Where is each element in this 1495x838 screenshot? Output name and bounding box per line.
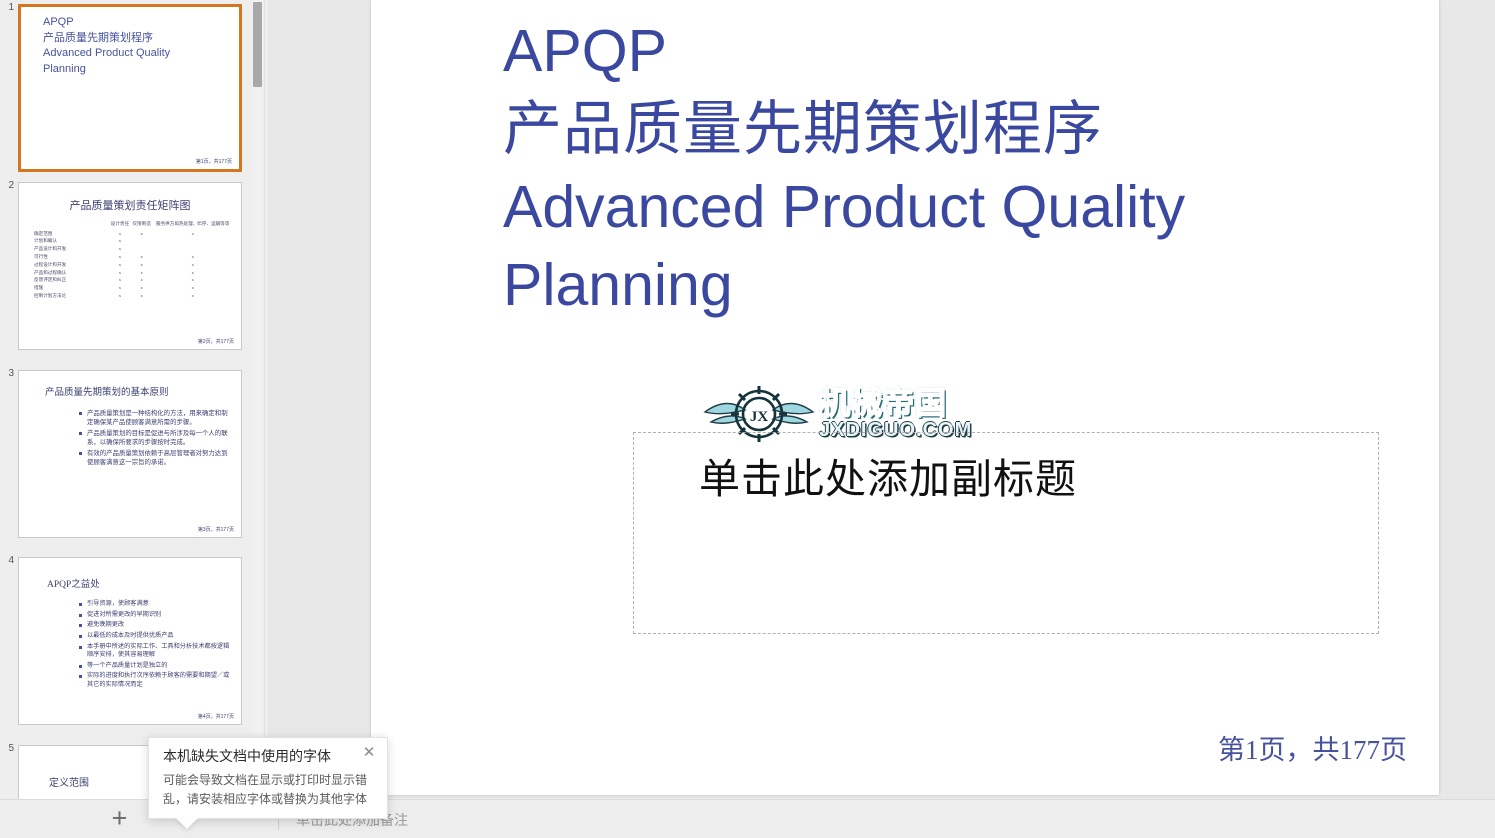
table-cell-mark — [152, 238, 233, 246]
table-row: 过程设计和开发xxx — [33, 261, 233, 269]
slide-number-5: 5 — [2, 743, 14, 754]
slide-number-1: 1 — [2, 2, 14, 13]
slide-canvas-area: APQP 产品质量先期策划程序 Advanced Product Quality… — [268, 0, 1495, 799]
table-row: 计划和确认x — [33, 238, 233, 246]
table-row-label: 反馈评定和纠正 — [33, 277, 109, 285]
slide-thumbnail-frame[interactable]: APQP之益处 引导资源，使顾客满意促进对所需更改的早期识别避免晚期更改以最低的… — [18, 557, 242, 725]
table-row-label: 产品设计和开发 — [33, 246, 109, 254]
table-row-label: 产品和过程确认 — [33, 269, 109, 277]
thumb-4-title: APQP之益处 — [47, 576, 100, 590]
table-cell-mark: x — [131, 261, 153, 269]
slide-number-3: 3 — [2, 368, 14, 379]
presentation-editor: 1 APQP 产品质量先期策划程序 Advanced Product Quali… — [0, 0, 1495, 837]
table-row-label: 确定范围 — [33, 230, 109, 238]
table-row: 控制计划方法论xxx — [33, 292, 233, 300]
slide-thumbnail-panel[interactable]: 1 APQP 产品质量先期策划程序 Advanced Product Quali… — [0, 0, 268, 799]
thumb-2-title: 产品质量策划责任矩阵图 — [19, 197, 241, 213]
table-cell-mark — [131, 238, 153, 246]
table-row: 可行性xxx — [33, 253, 233, 261]
slide-title[interactable]: APQP 产品质量先期策划程序 Advanced Product Quality… — [503, 12, 1363, 324]
notification-pointer — [176, 818, 198, 829]
slide-thumbnail-frame[interactable]: 产品质量策划责任矩阵图 设计责任 仅限制造 服务供方如热处理、贮存、运输等等 确… — [18, 182, 242, 350]
table-cell-mark: x — [152, 261, 233, 269]
title-line-advanced-product-quality: Advanced Product Quality — [503, 168, 1363, 246]
table-row: 产品和过程确认xxx — [33, 269, 233, 277]
list-item: 产品质量策划是一种结构化的方法，用来确定和制定确保某产品使顾客满意所需的步骤。 — [79, 409, 231, 427]
table-cell-mark: x — [109, 246, 131, 254]
table-cell-mark: x — [152, 284, 233, 292]
list-item: 引导资源，使顾客满意 — [79, 600, 231, 609]
table-row: 措施xxx — [33, 284, 233, 292]
table-row: 反馈评定和纠正xxx — [33, 277, 233, 285]
list-item: 等一个产品质量计划是独立的 — [79, 662, 231, 671]
thumb-1-footer: 第1页，共177页 — [196, 158, 232, 165]
table-cell-mark: x — [131, 253, 153, 261]
slide-thumbnail-3[interactable]: 3 产品质量先期策划的基本原则 产品质量策划是一种结构化的方法，用来确定和制定确… — [0, 368, 268, 555]
slide-thumbnail-4[interactable]: 4 APQP之益处 引导资源，使顾客满意促进对所需更改的早期识别避免晚期更改以最… — [0, 555, 268, 743]
thumb-3-footer: 第3页，共177页 — [198, 526, 234, 533]
list-item: 避免晚期更改 — [79, 621, 231, 630]
slide-thumbnail-2[interactable]: 2 产品质量策划责任矩阵图 设计责任 仅限制造 服务供方如热处理、贮存、运输等等 — [0, 180, 268, 368]
thumb-1-title: APQP 产品质量先期策划程序 Advanced Product Quality… — [43, 15, 231, 77]
thumb-2-table: 设计责任 仅限制造 服务供方如热处理、贮存、运输等等 确定范围xxx计划和确认x… — [33, 221, 233, 300]
sidebar-divider — [264, 0, 265, 799]
table-row-label: 过程设计和开发 — [33, 261, 109, 269]
current-slide[interactable]: APQP 产品质量先期策划程序 Advanced Product Quality… — [371, 0, 1439, 795]
table-row-label: 措施 — [33, 284, 109, 292]
table-cell-mark: x — [109, 261, 131, 269]
table-cell-mark: x — [152, 292, 233, 300]
watermark-brand: 机械帝国 — [819, 386, 947, 421]
table-cell-mark: x — [152, 277, 233, 285]
table-cell-mark: x — [131, 277, 153, 285]
table-cell-mark: x — [109, 253, 131, 261]
table-cell-mark: x — [109, 277, 131, 285]
table-cell-mark: x — [109, 269, 131, 277]
table-cell-mark: x — [131, 269, 153, 277]
close-icon[interactable]: ✕ — [360, 744, 378, 762]
subtitle-placeholder-box[interactable]: 单击此处添加副标题 — [633, 432, 1379, 634]
thumb-2-footer: 第2页，共177页 — [198, 338, 234, 345]
title-line-apqp: APQP — [503, 12, 1363, 90]
subtitle-placeholder-text: 单击此处添加副标题 — [699, 445, 1077, 505]
table-row: 确定范围xxx — [33, 230, 233, 238]
table-cell-mark: x — [152, 253, 233, 261]
table-cell-mark: x — [109, 284, 131, 292]
table-cell-mark: x — [131, 230, 153, 238]
thumb-3-title: 产品质量先期策划的基本原则 — [45, 384, 169, 398]
sidebar-scrollbar-thumb[interactable] — [253, 2, 262, 87]
table-cell-mark: x — [109, 230, 131, 238]
slide-thumbnail-frame[interactable]: 产品质量先期策划的基本原则 产品质量策划是一种结构化的方法，用来确定和制定确保某… — [18, 370, 242, 538]
slide-page-number: 第1页，共177页 — [1218, 728, 1407, 767]
list-item: 促进对所需更改的早期识别 — [79, 611, 231, 620]
list-item: 实际的进度和执行次序依赖于顾客的需要和期望／或其它的实际情况而定 — [79, 672, 231, 689]
sidebar-scrollbar-track[interactable] — [252, 0, 263, 799]
list-item: 有效的产品质量策划依赖于高层管理者对努力达到使顾客满意这一宗旨的承诺。 — [79, 449, 231, 467]
table-cell-mark — [131, 246, 153, 254]
thumb-5-title: 定义范围 — [49, 774, 89, 789]
thumb-3-bullets: 产品质量策划是一种结构化的方法，用来确定和制定确保某产品使顾客满意所需的步骤。产… — [39, 409, 231, 469]
slide-thumbnail-frame[interactable]: APQP 产品质量先期策划程序 Advanced Product Quality… — [18, 4, 242, 172]
thumb-4-footer: 第4页，共177页 — [198, 713, 234, 720]
table-row: 产品设计和开发x — [33, 246, 233, 254]
add-slide-button[interactable]: + — [104, 804, 135, 835]
table-cell-mark: x — [109, 292, 131, 300]
missing-font-notification[interactable]: 本机缺失文档中使用的字体 ✕ 可能会导致文档在显示或打印时显示错乱，请安装相应字… — [148, 737, 388, 819]
table-cell-mark: x — [152, 230, 233, 238]
notification-body: 可能会导致文档在显示或打印时显示错乱，请安装相应字体或替换为其他字体 — [163, 771, 379, 809]
notification-title: 本机缺失文档中使用的字体 — [163, 746, 331, 766]
table-row-label: 控制计划方法论 — [33, 292, 109, 300]
slide-thumbnail-1[interactable]: 1 APQP 产品质量先期策划程序 Advanced Product Quali… — [0, 0, 268, 180]
list-item: 本手册中所述的实际工作、工具和分析技术都按逻辑顺序安排，使其容易理解 — [79, 643, 231, 660]
list-item: 产品质量策划的目标是促进与所涉及每一个人的联系，以确保所要求的步骤按时完成。 — [79, 429, 231, 447]
table-cell-mark: x — [131, 292, 153, 300]
table-cell-mark: x — [109, 238, 131, 246]
list-item: 以最低的成本及时提供优质产品 — [79, 632, 231, 641]
table-cell-mark — [152, 246, 233, 254]
table-row-label: 计划和确认 — [33, 238, 109, 246]
thumb-4-bullets: 引导资源，使顾客满意促进对所需更改的早期识别避免晚期更改以最低的成本及时提供优质… — [39, 600, 231, 691]
table-cell-mark: x — [131, 284, 153, 292]
title-line-planning: Planning — [503, 246, 1363, 324]
table-row-label: 可行性 — [33, 253, 109, 261]
slide-number-4: 4 — [2, 555, 14, 566]
title-line-chinese: 产品质量先期策划程序 — [503, 90, 1363, 168]
logo-letters: JX — [750, 409, 769, 425]
table-cell-mark: x — [152, 269, 233, 277]
slide-number-2: 2 — [2, 180, 14, 191]
